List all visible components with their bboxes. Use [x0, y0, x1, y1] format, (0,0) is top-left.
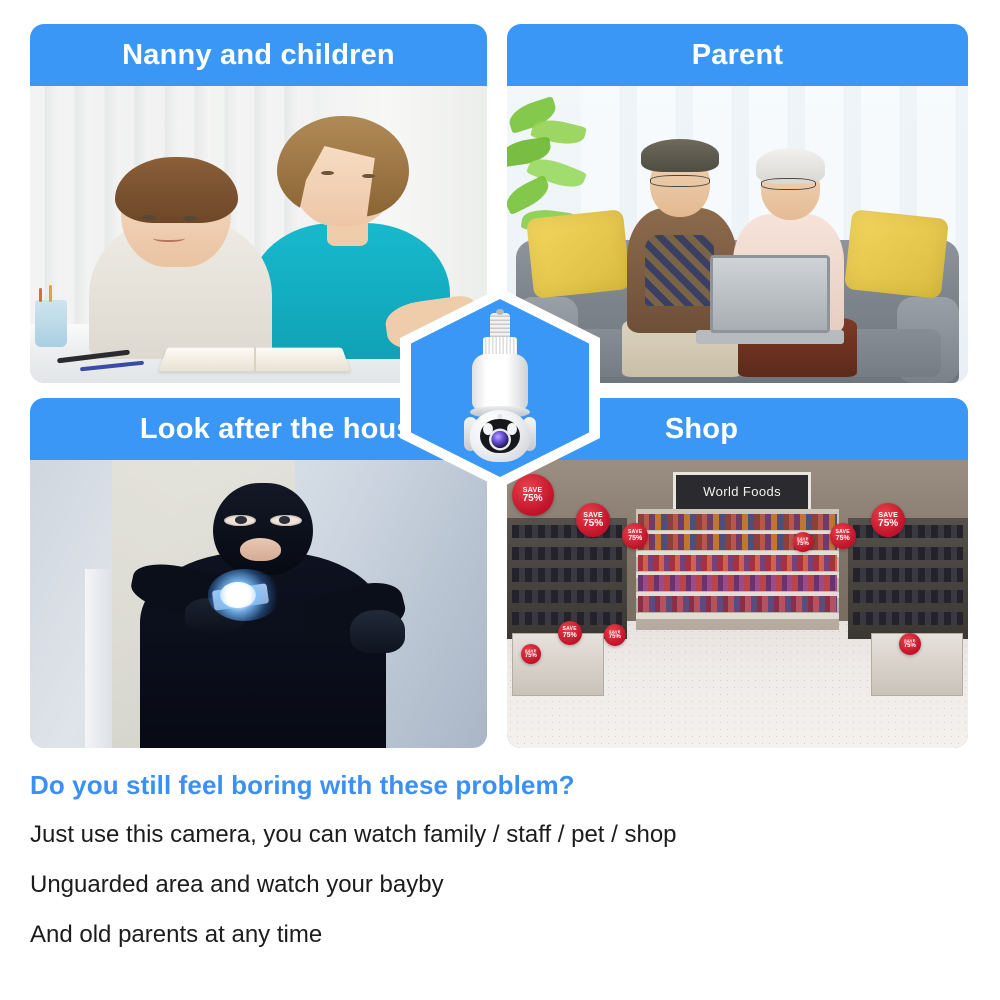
- panel-header-nanny-and-children: Nanny and children: [30, 24, 487, 86]
- panel-title-look-after-the-house: Look after the house: [88, 415, 429, 444]
- product-hexagon[interactable]: [400, 288, 600, 488]
- promo-badge: SAVE 75%: [793, 532, 813, 552]
- camera-screw-base: [490, 313, 510, 339]
- promo-badge-percent-label: 75%: [525, 653, 537, 659]
- promo-badge-percent-label: 75%: [904, 643, 916, 649]
- copy-line-3: And old parents at any time: [30, 923, 970, 947]
- copy-line-1: Just use this camera, you can watch fami…: [30, 823, 970, 847]
- promo-badge-percent-label: 75%: [583, 519, 603, 529]
- look-after-the-house-photo: [30, 460, 487, 748]
- product-collage-page: Nanny and children: [0, 0, 1000, 1000]
- promo-badge: SAVE 75%: [558, 621, 582, 645]
- camera-body: [472, 354, 528, 410]
- promo-badge: SAVE 75%: [830, 523, 856, 549]
- promo-badge: SAVE 75%: [899, 633, 921, 655]
- panel-title-shop: Shop: [665, 415, 810, 444]
- shop-photo: World Foods: [507, 460, 968, 748]
- panel-title-nanny-and-children: Nanny and children: [122, 41, 395, 70]
- panel-header-parent: Parent: [507, 24, 968, 86]
- promo-badge-percent-label: 75%: [523, 494, 543, 504]
- promo-badge-percent-label: 75%: [628, 535, 642, 542]
- promo-badge-percent-label: 75%: [609, 634, 621, 640]
- panel-title-parent: Parent: [692, 41, 783, 70]
- bulb-socket-camera-product-image: [454, 313, 546, 463]
- promo-badge-percent-label: 75%: [563, 632, 577, 639]
- aisle-sign: World Foods: [673, 472, 811, 512]
- promo-badge-percent-label: 75%: [836, 535, 850, 542]
- copy-line-2: Unguarded area and watch your bayby: [30, 873, 970, 897]
- promo-badge: SAVE 75%: [604, 624, 626, 646]
- marketing-copy: Do you still feel boring with these prob…: [30, 770, 970, 973]
- camera-lens: [492, 431, 509, 448]
- promo-badge-percent-label: 75%: [797, 541, 809, 547]
- copy-headline: Do you still feel boring with these prob…: [30, 770, 970, 801]
- aisle-sign-label: World Foods: [703, 484, 781, 499]
- promo-badge-percent-label: 75%: [878, 519, 898, 529]
